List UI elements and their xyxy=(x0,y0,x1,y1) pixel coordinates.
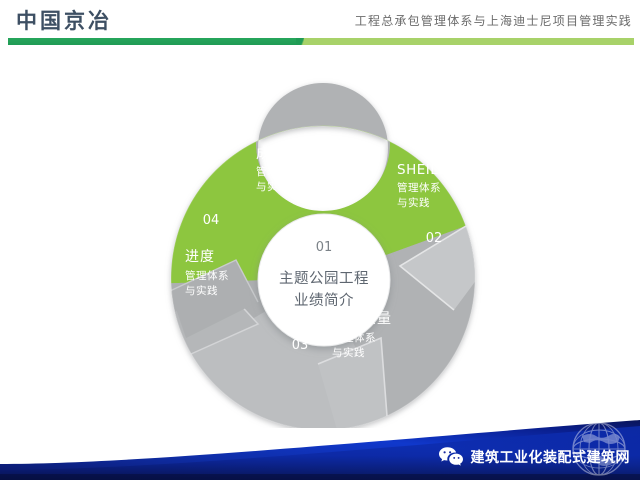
segment-05-labels[interactable]: 05 成本 管理体系 与实践 xyxy=(256,146,346,193)
presentation-subtitle: 工程总承包管理体系与上海迪士尼项目管理实践 xyxy=(355,12,632,29)
segment-04-number: 04 xyxy=(203,213,220,228)
header-rule-dark xyxy=(8,38,304,45)
segment-04-sub1: 管理体系 xyxy=(185,269,229,282)
segment-02-sub2: 与实践 xyxy=(397,196,430,209)
segment-02-sub1: 管理体系 xyxy=(397,181,441,194)
center-number: 01 xyxy=(316,240,333,255)
segment-03-number: 03 xyxy=(292,338,309,353)
cycle-diagram: 01 主题公园工程 业绩简介 05 成本 管理体系 与实践 SHEILSS 管理… xyxy=(0,48,640,428)
segment-04-title: 进度 xyxy=(185,249,215,265)
slide-header: 中国京冶 工程总承包管理体系与上海迪士尼项目管理实践 xyxy=(0,0,640,48)
segment-02-title: SHEILSS xyxy=(397,162,456,178)
company-logo-text: 中国京冶 xyxy=(16,8,112,34)
center-title-line2: 业绩简介 xyxy=(294,292,354,309)
segment-05-sub2: 与实践 xyxy=(256,180,289,193)
footer-brand: 建筑工业化装配式建筑网 xyxy=(438,446,631,468)
segment-05-sub1: 管理体系 xyxy=(256,165,300,178)
segment-03-sub2: 与实践 xyxy=(332,346,365,359)
slide-footer: 建筑工业化装配式建筑网 xyxy=(0,418,640,480)
segment-04-sub2: 与实践 xyxy=(185,284,218,297)
center-title-line1: 主题公园工程 xyxy=(279,270,369,287)
segment-03-sub1: 管理体系 xyxy=(332,331,376,344)
header-rule-light xyxy=(304,38,634,45)
segment-05-number: 05 xyxy=(330,156,347,171)
segment-05-title: 成本 xyxy=(256,146,286,162)
wechat-icon xyxy=(438,446,464,468)
footer-brand-text: 建筑工业化装配式建筑网 xyxy=(471,447,631,467)
segment-02-number: 02 xyxy=(426,231,443,246)
slide-canvas: 中国京冶 工程总承包管理体系与上海迪士尼项目管理实践 xyxy=(0,0,640,480)
segment-03-title: 技术质量 xyxy=(332,311,392,327)
